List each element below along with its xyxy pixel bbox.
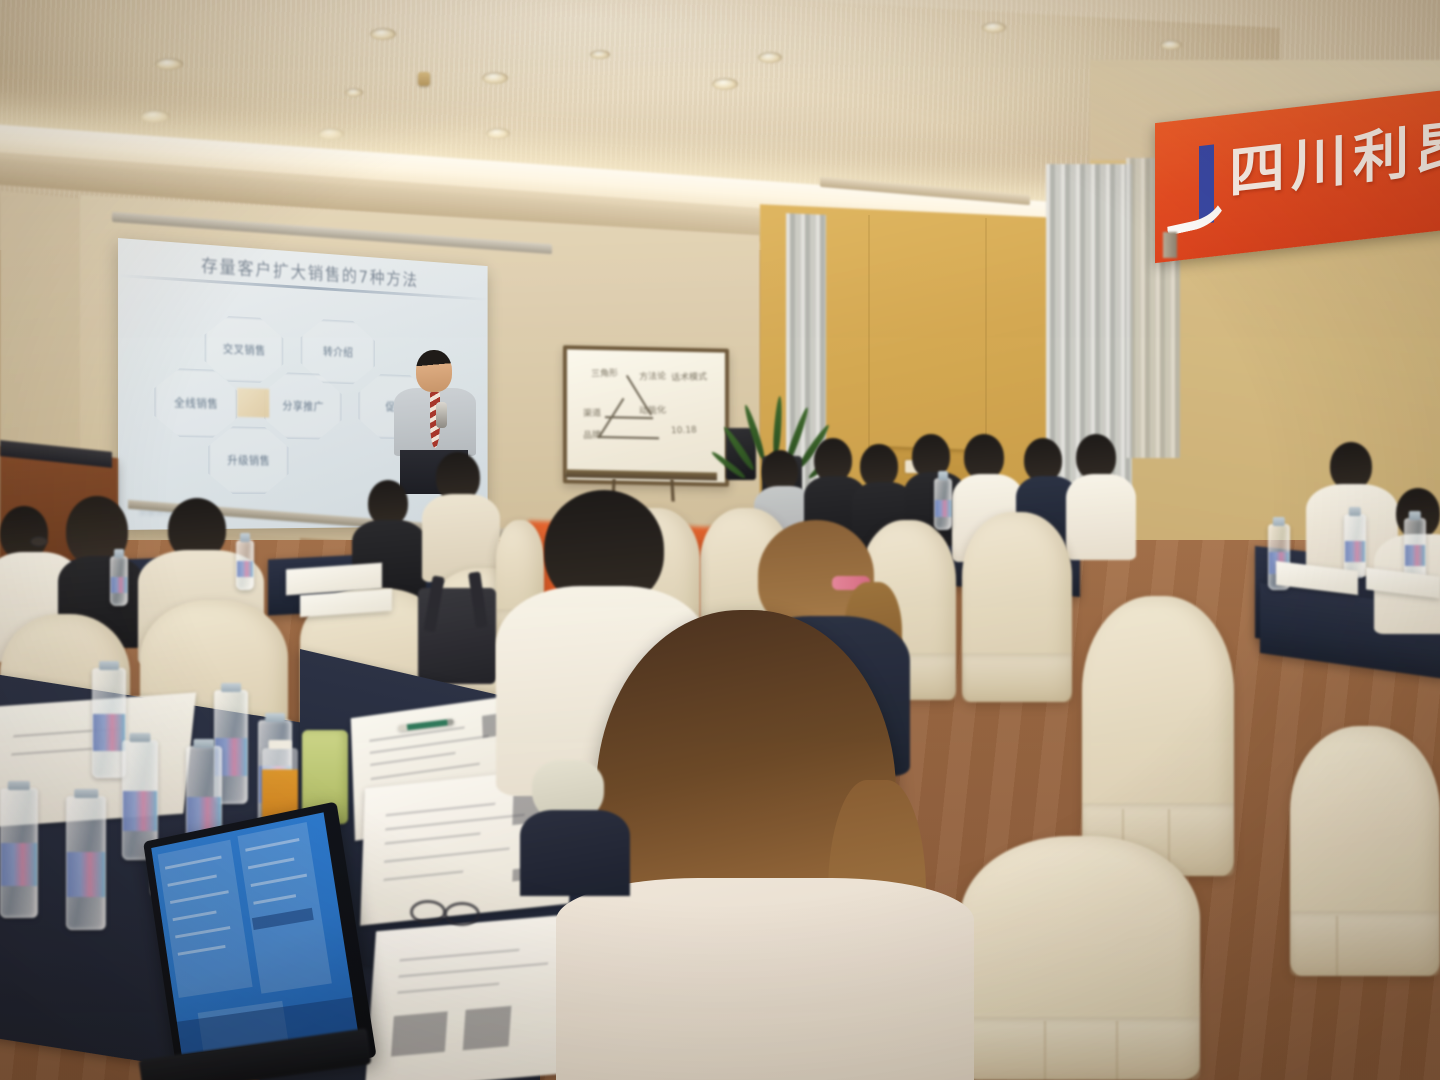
attendee-body [1066, 474, 1136, 560]
bottle-cap [129, 733, 150, 742]
ceiling-downlight [482, 72, 508, 84]
paper-line [11, 747, 99, 755]
ceiling-downlight [758, 52, 782, 63]
ceiling-downlight [345, 88, 363, 97]
whiteboard-note: 品牌 [583, 428, 602, 442]
water-bottle [236, 540, 254, 590]
bottle-cap [1409, 511, 1421, 520]
ceiling-downlight [590, 50, 610, 59]
paper-line [370, 752, 455, 765]
whiteboard-pyramid-line [597, 436, 659, 439]
bottle-cap [99, 661, 119, 670]
node-label: 交叉销售 [223, 341, 266, 358]
node-label: 转介绍 [323, 344, 353, 360]
water-bottle [934, 478, 952, 530]
logo-swoosh-icon [1162, 168, 1230, 236]
paper-line [397, 983, 499, 993]
paper-line [385, 833, 481, 845]
paper-line [399, 962, 549, 977]
bottle-label [1, 843, 37, 887]
whiteboard-note: 方法论 [639, 369, 667, 383]
chair-skirt [960, 1017, 1200, 1080]
paper-block [463, 1006, 512, 1050]
ceiling-downlight [486, 128, 510, 139]
bottle-label [1345, 541, 1365, 562]
chair-skirt [1290, 911, 1440, 976]
banner-text: 四川利昂 [1229, 100, 1440, 209]
bottle-cap [193, 739, 214, 748]
bottle-cap [221, 683, 241, 692]
ceiling-downlight [982, 22, 1006, 33]
attendee-body [556, 878, 974, 1080]
chair-pleat [1116, 1021, 1118, 1080]
paper-line [385, 814, 524, 830]
node-label: 升级销售 [227, 452, 270, 468]
ceiling-downlight [712, 78, 738, 90]
ceiling-downlight [155, 58, 183, 70]
bottle-cap [938, 471, 948, 480]
whiteboard-pyramid-line [605, 416, 653, 419]
company-logo [1165, 141, 1227, 232]
bottle-label [1405, 545, 1425, 566]
glasses-lens [410, 900, 446, 924]
glasses-lens [30, 536, 48, 547]
whiteboard-note: 动能化 [639, 403, 667, 417]
node-label: 全线销售 [174, 395, 218, 412]
bottle-cap [240, 533, 250, 542]
chair-pleat [1044, 1021, 1046, 1080]
chair-skirt [962, 653, 1072, 702]
sprinkler-head [418, 72, 430, 86]
bottle-cap [1349, 507, 1361, 516]
chair [1082, 596, 1234, 876]
whiteboard: 三角形 渠道 品牌 方法论 动能化 话术模式 10.18 [563, 345, 729, 486]
chair [960, 836, 1200, 1080]
attendee-head [1330, 442, 1372, 490]
paper-line [384, 848, 509, 863]
water-bottle [0, 788, 38, 918]
microphone [436, 402, 447, 428]
paper-line [384, 871, 464, 881]
water-bottle [92, 668, 126, 778]
ceiling-downlight [318, 128, 344, 140]
bottle-cap [268, 740, 291, 749]
bottle-label [67, 852, 105, 897]
node-label: 分享推广 [282, 398, 323, 414]
ceiling-downlight [370, 28, 396, 40]
bottle-cap [74, 789, 98, 798]
glasses-lens [444, 902, 480, 926]
water-bottle [66, 796, 106, 930]
slide-diagram-core [237, 388, 269, 418]
chair-pleat [1336, 916, 1338, 976]
whiteboard-note: 话术模式 [671, 369, 708, 383]
laptop-display[interactable] [151, 812, 358, 1054]
whiteboard-note: 渠道 [583, 406, 602, 420]
whiteboard-note: 三角形 [591, 366, 619, 380]
banner-pole [1163, 232, 1177, 258]
paper-block [391, 1011, 448, 1056]
paper-line [400, 949, 520, 961]
bottle-cap [265, 713, 285, 722]
presenter-head [416, 350, 452, 392]
paper-line [386, 803, 495, 816]
whiteboard-note: 10.18 [671, 425, 697, 436]
bottle-cap [1273, 517, 1285, 526]
bottle-cap [8, 781, 30, 790]
water-bottle [110, 556, 128, 606]
bottle-cap [114, 549, 124, 558]
conference-room-photo: 四川利昂 存量客户扩大销售的7种方法 交叉销售 转介绍 全线销售 分享推广 促销… [0, 0, 1440, 1080]
bottle-label [93, 714, 125, 751]
ceiling-downlight [140, 110, 170, 123]
bottle-label [123, 791, 157, 831]
attendee-body [520, 810, 630, 896]
bottle-label [237, 561, 253, 577]
attendee-masked [520, 740, 640, 890]
chair [962, 512, 1072, 702]
ceiling-downlight [1160, 40, 1182, 50]
eyeglasses [410, 896, 486, 926]
water-bottle [1344, 514, 1366, 578]
bottle-label [935, 500, 951, 517]
bottle-label [111, 577, 127, 593]
chair [1290, 726, 1440, 976]
